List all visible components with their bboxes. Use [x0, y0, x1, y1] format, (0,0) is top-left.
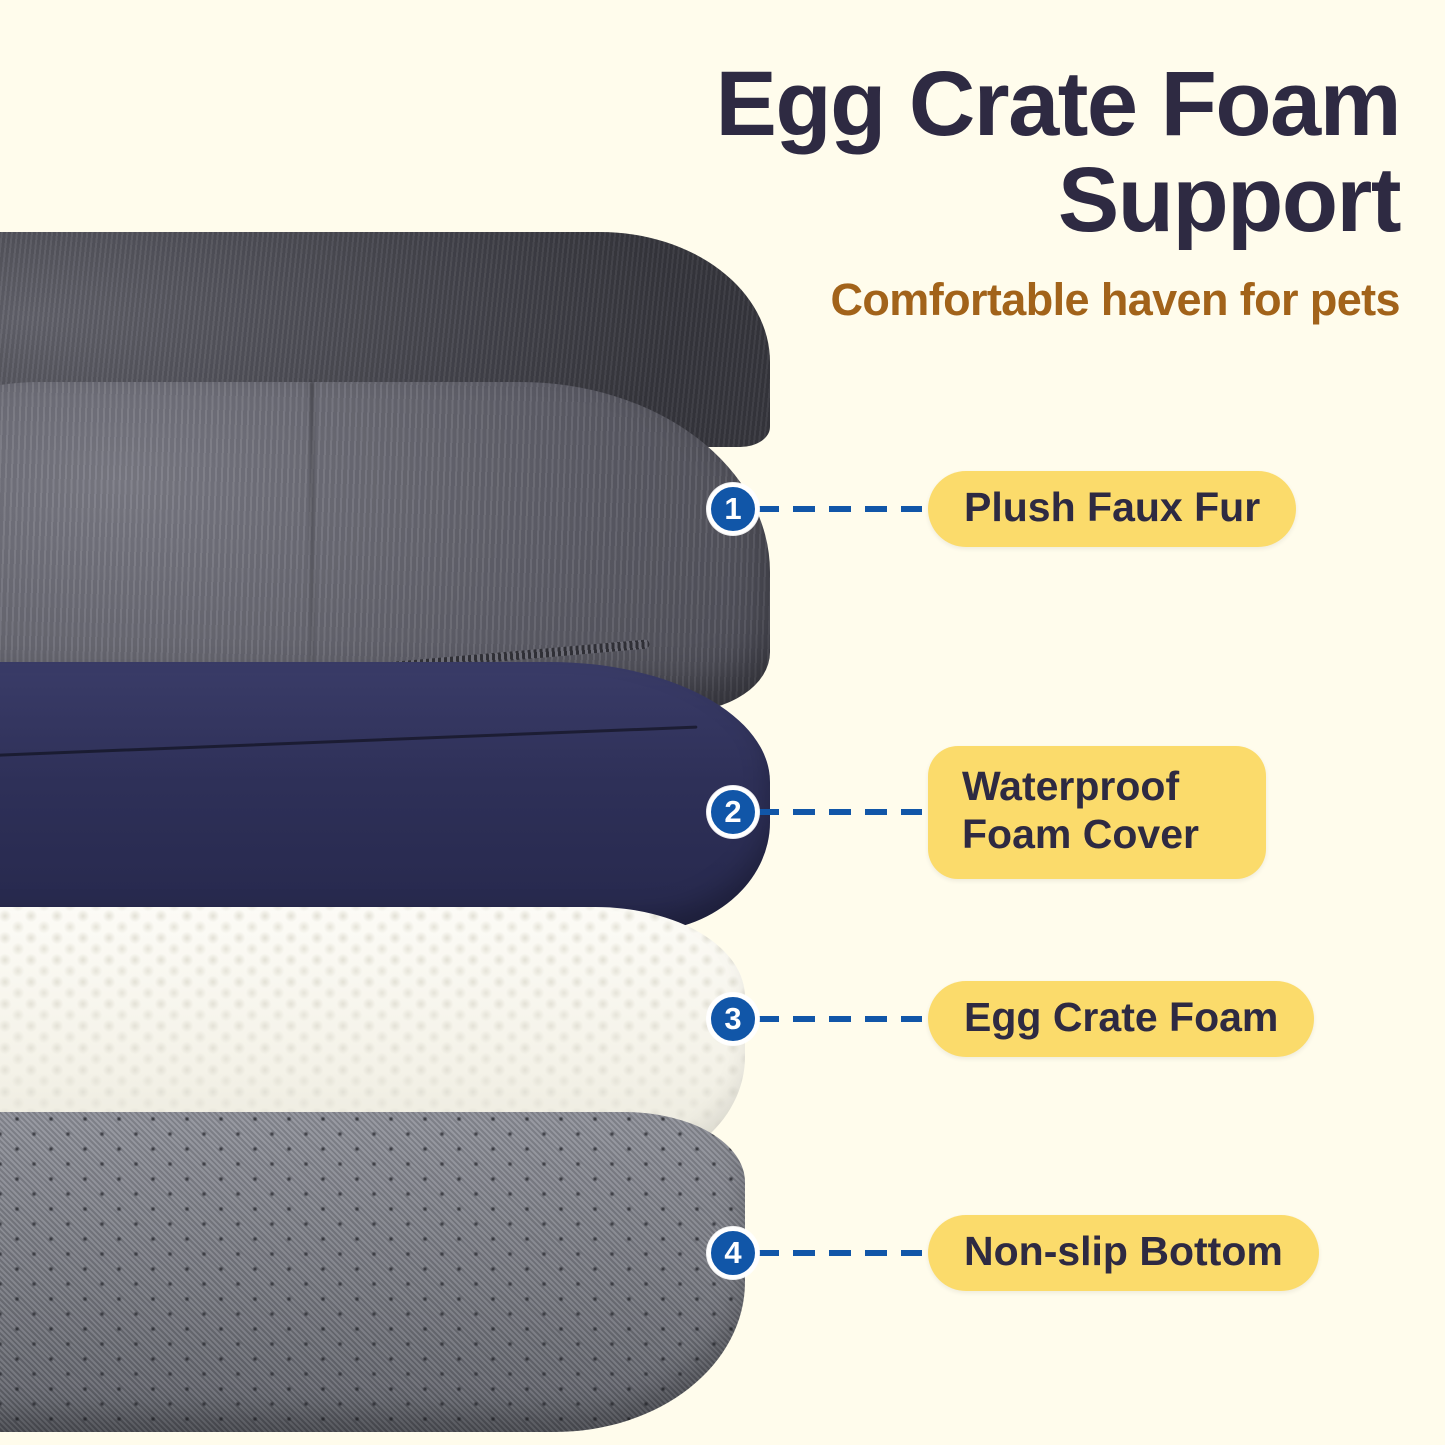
callout-label-2-line-1: Waterproof [962, 763, 1179, 809]
page-title-line-1: Egg Crate Foam [520, 58, 1400, 152]
page-title-line-2: Support [520, 154, 1400, 248]
callout-label-1: Plush Faux Fur [928, 471, 1296, 547]
dashed-leader-line-1 [757, 506, 922, 512]
layer-waterproof-foam-cover [0, 662, 770, 932]
page-subtitle: Comfortable haven for pets [520, 274, 1400, 326]
callout-number-badge-3: 3 [707, 993, 759, 1045]
callout-waterproof-foam-cover[interactable]: 2 Waterproof Foam Cover [707, 746, 1266, 879]
callout-plush-faux-fur[interactable]: 1 Plush Faux Fur [707, 471, 1296, 547]
dashed-leader-line-4 [757, 1250, 922, 1256]
callout-label-4: Non-slip Bottom [928, 1215, 1319, 1291]
fur-seam-line [310, 382, 314, 682]
dashed-leader-line-2 [757, 809, 922, 815]
callout-number-badge-2: 2 [707, 786, 759, 838]
callout-non-slip-bottom[interactable]: 4 Non-slip Bottom [707, 1215, 1319, 1291]
product-layer-stack [0, 232, 770, 1432]
callout-label-2: Waterproof Foam Cover [928, 746, 1266, 879]
callout-number-badge-4: 4 [707, 1227, 759, 1279]
layer-non-slip-bottom [0, 1112, 745, 1432]
infographic-canvas: Egg Crate Foam Support Comfortable haven… [0, 0, 1445, 1445]
callout-number-badge-1: 1 [707, 483, 759, 535]
callout-label-3: Egg Crate Foam [928, 981, 1314, 1057]
dashed-leader-line-3 [757, 1016, 922, 1022]
callout-label-2-line-2: Foam Cover [962, 811, 1199, 857]
headline-block: Egg Crate Foam Support Comfortable haven… [520, 58, 1400, 326]
callout-egg-crate-foam[interactable]: 3 Egg Crate Foam [707, 981, 1314, 1057]
